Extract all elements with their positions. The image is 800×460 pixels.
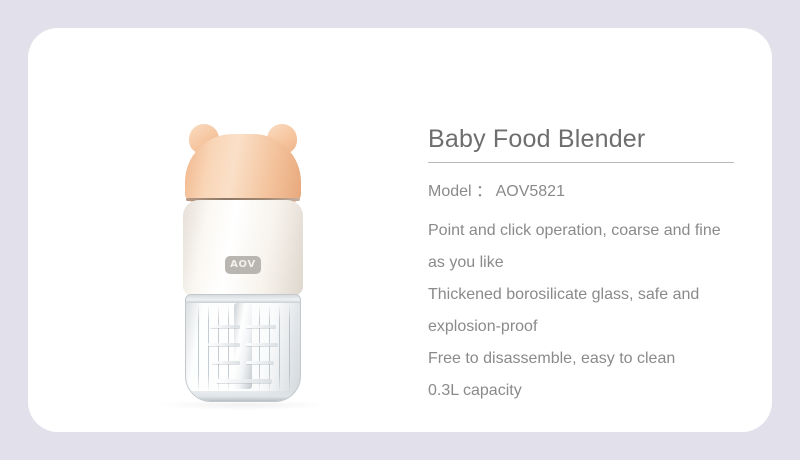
feature-line: 0.3L capacity (428, 375, 748, 407)
feature-list: Point and click operation, coarse and fi… (428, 215, 748, 407)
blender-lid (185, 134, 301, 202)
brand-logo-text: AOV (230, 260, 256, 270)
product-image: AOV (138, 88, 388, 418)
blade-arm (212, 361, 240, 364)
blender-illustration: AOV (183, 124, 303, 404)
blade-arm (246, 343, 278, 346)
product-card: AOV (28, 28, 772, 432)
jar-rim (186, 295, 300, 303)
feature-line: as you like (428, 247, 748, 279)
feature-line: Free to disassemble, easy to clean (428, 343, 748, 375)
product-title: Baby Food Blender (428, 124, 748, 155)
jar-flute (208, 305, 209, 393)
product-detail-page: AOV (0, 0, 800, 460)
brand-logo-badge: AOV (225, 256, 261, 274)
blade-arm (246, 361, 274, 364)
blade-shaft (234, 303, 252, 389)
jar-base (186, 391, 300, 401)
blade-arm (246, 325, 276, 328)
blade-arm (210, 325, 240, 328)
product-info: Baby Food Blender Model ： AOV5821 Point … (428, 124, 748, 407)
jar-flute (279, 305, 280, 393)
jar-flute (198, 305, 199, 393)
blade-base-arm (216, 379, 272, 383)
product-model: Model ： AOV5821 (428, 177, 748, 201)
feature-line: explosion-proof (428, 311, 748, 343)
feature-line: Point and click operation, coarse and fi… (428, 215, 748, 247)
jar-flute (289, 305, 290, 393)
feature-line: Thickened borosilicate glass, safe and (428, 279, 748, 311)
glass-jar (185, 294, 301, 402)
title-divider (428, 162, 734, 163)
motor-body (183, 200, 303, 296)
blade-arm (208, 343, 240, 346)
